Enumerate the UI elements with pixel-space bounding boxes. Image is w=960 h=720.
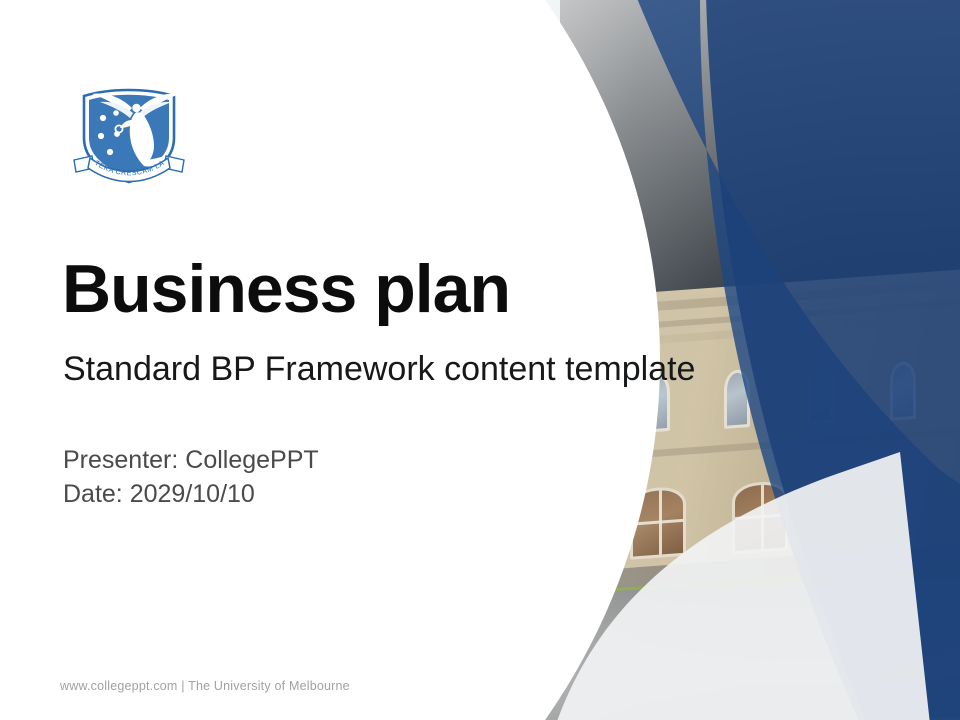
- page-title: Business plan: [62, 255, 510, 323]
- presentation-slide: POSTERA CRESCAM LAUDE Business plan Stan…: [0, 0, 960, 720]
- presentation-meta: Presenter: CollegePPT Date: 2029/10/10: [63, 443, 319, 511]
- presenter-line: Presenter: CollegePPT: [63, 443, 319, 477]
- slide-footer: www.collegeppt.com | The University of M…: [60, 679, 350, 693]
- page-subtitle: Standard BP Framework content template: [63, 352, 695, 386]
- date-line: Date: 2029/10/10: [63, 477, 319, 511]
- university-of-melbourne-crest: POSTERA CRESCAM LAUDE: [70, 84, 188, 188]
- light-crescent: [556, 452, 930, 720]
